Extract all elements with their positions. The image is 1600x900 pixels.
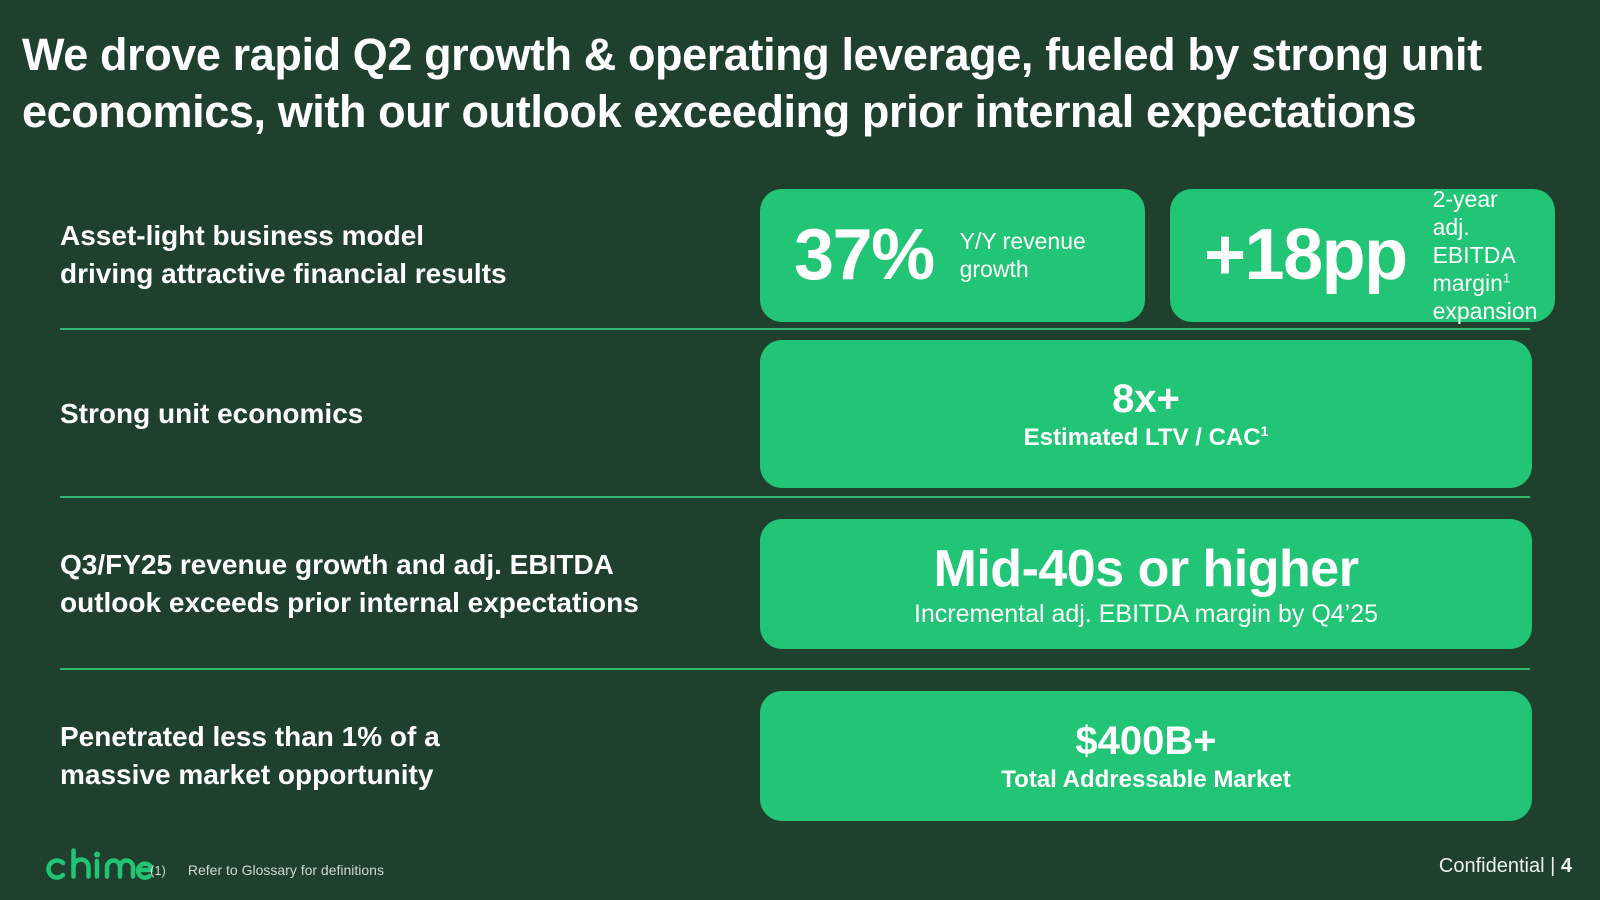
- metric-card-ebitda-margin-expansion-value: +18pp: [1204, 218, 1407, 292]
- caption-line-3: margin1: [1433, 269, 1538, 297]
- metric-card-ltv-cac[interactable]: 8x+ Estimated LTV / CAC1: [760, 340, 1532, 488]
- row-4-label-line-2: massive market opportunity: [60, 756, 742, 794]
- metric-card-revenue-growth[interactable]: 37% Y/Y revenue growth: [760, 189, 1145, 322]
- chime-logo-dot: [94, 852, 100, 858]
- page-title: We drove rapid Q2 growth & operating lev…: [22, 26, 1578, 140]
- metric-card-ebitda-outlook-value: Mid-40s or higher: [934, 539, 1359, 599]
- content-row-2: Strong unit economics 8x+ Estimated LTV …: [0, 330, 1600, 498]
- row-3-label: Q3/FY25 revenue growth and adj. EBITDA o…: [0, 546, 760, 622]
- row-1-label-line-1: Asset-light business model: [60, 217, 742, 255]
- slide-footer: (1) Refer to Glossary for definitions Co…: [0, 828, 1600, 900]
- metric-card-ebitda-outlook-caption: Incremental adj. EBITDA margin by Q4’25: [914, 599, 1378, 629]
- row-4-label-line-1: Penetrated less than 1% of a: [60, 718, 742, 756]
- metric-card-tam-caption: Total Addressable Market: [1001, 765, 1290, 795]
- chime-logo: [45, 848, 153, 882]
- metric-card-ebitda-margin-expansion[interactable]: +18pp 2-year adj. EBITDA margin1 expansi…: [1170, 189, 1555, 322]
- content-row-3: Q3/FY25 revenue growth and adj. EBITDA o…: [0, 498, 1600, 670]
- confidential-separator: |: [1550, 855, 1555, 877]
- row-3-label-line-2: outlook exceeds prior internal expectati…: [60, 584, 742, 622]
- content-row-4: Penetrated less than 1% of a massive mar…: [0, 670, 1600, 842]
- row-1-cards: 37% Y/Y revenue growth +18pp 2-year adj.…: [760, 189, 1600, 322]
- metric-card-ltv-cac-caption-text: Estimated LTV / CAC: [1024, 424, 1261, 451]
- metric-card-tam-value: $400B+: [1075, 717, 1216, 765]
- metric-card-ltv-cac-caption: Estimated LTV / CAC1: [1024, 423, 1269, 453]
- metric-card-ebitda-outlook[interactable]: Mid-40s or higher Incremental adj. EBITD…: [760, 519, 1532, 649]
- title-line-2: economics, with our outlook exceeding pr…: [22, 83, 1578, 140]
- footnote-ref-1: 1: [1503, 270, 1510, 285]
- row-2-label-line-1: Strong unit economics: [60, 395, 742, 433]
- metric-card-revenue-growth-caption-line-1: Y/Y revenue: [960, 227, 1086, 255]
- page-number: 4: [1561, 855, 1572, 877]
- metric-card-ltv-cac-value: 8x+: [1112, 375, 1180, 423]
- metric-card-revenue-growth-caption: Y/Y revenue growth: [960, 227, 1086, 283]
- footnote: (1) Refer to Glossary for definitions: [150, 862, 384, 878]
- row-1-label: Asset-light business model driving attra…: [0, 217, 760, 293]
- metric-card-ebitda-margin-expansion-caption: 2-year adj. EBITDA margin1 expansion: [1433, 185, 1538, 325]
- caption-line-2: EBITDA: [1433, 241, 1538, 269]
- row-1-label-line-2: driving attractive financial results: [60, 255, 742, 293]
- row-4-cards: $400B+ Total Addressable Market: [760, 691, 1600, 821]
- metric-card-revenue-growth-caption-line-2: growth: [960, 255, 1086, 283]
- slide-root: We drove rapid Q2 growth & operating lev…: [0, 0, 1600, 900]
- confidential-label: Confidential: [1439, 855, 1545, 877]
- metric-card-tam[interactable]: $400B+ Total Addressable Market: [760, 691, 1532, 821]
- caption-line-3-text: margin: [1433, 270, 1503, 296]
- content-row-1: Asset-light business model driving attra…: [0, 180, 1600, 330]
- row-3-label-line-1: Q3/FY25 revenue growth and adj. EBITDA: [60, 546, 742, 584]
- confidential-page-indicator: Confidential | 4: [1439, 855, 1572, 878]
- footnote-text: Refer to Glossary for definitions: [188, 862, 384, 878]
- metric-card-revenue-growth-value: 37%: [794, 218, 934, 292]
- content-rows: Asset-light business model driving attra…: [0, 180, 1600, 842]
- row-3-cards: Mid-40s or higher Incremental adj. EBITD…: [760, 519, 1600, 649]
- row-2-label: Strong unit economics: [0, 395, 760, 433]
- footnote-ref-1: 1: [1261, 423, 1269, 439]
- row-4-label: Penetrated less than 1% of a massive mar…: [0, 718, 760, 794]
- caption-line-4: expansion: [1433, 297, 1538, 325]
- caption-line-1: 2-year adj.: [1433, 185, 1538, 241]
- row-2-cards: 8x+ Estimated LTV / CAC1: [760, 340, 1600, 488]
- footnote-mark: (1): [150, 863, 166, 878]
- title-line-1: We drove rapid Q2 growth & operating lev…: [22, 26, 1578, 83]
